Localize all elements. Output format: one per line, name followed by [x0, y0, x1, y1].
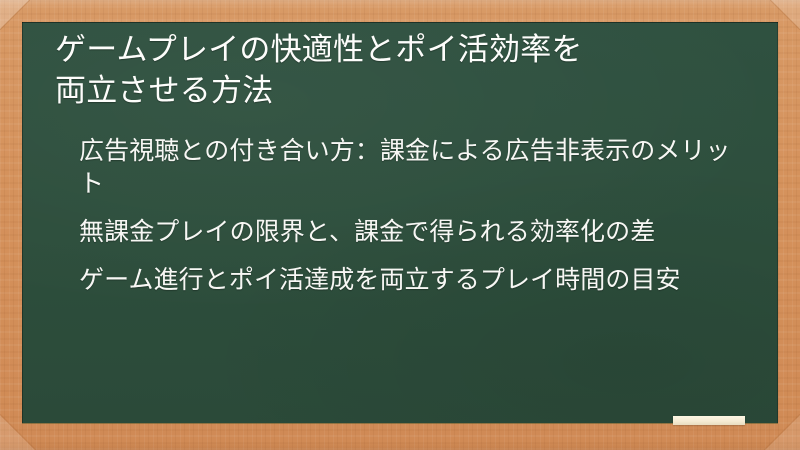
- frame-top-bevel: [0, 0, 800, 7]
- slide-title: ゲームプレイの快適性とポイ活効率を 両立させる方法: [55, 30, 748, 112]
- list-item: ゲーム進行とポイ活達成を両立するプレイ時間の目安: [79, 263, 748, 296]
- list-item: 無課金プレイの限界と、課金で得られる効率化の差: [79, 215, 748, 248]
- chalkboard-wooden-frame: ゲームプレイの快適性とポイ活効率を 両立させる方法 広告視聴との付き合い方：課金…: [0, 0, 800, 450]
- slide-bullet-list: 広告視聴との付き合い方：課金による広告非表示のメリット 無課金プレイの限界と、課…: [55, 134, 748, 296]
- frame-bottom-bevel: [0, 442, 800, 450]
- chalkboard-surface: ゲームプレイの快適性とポイ活効率を 両立させる方法 広告視聴との付き合い方：課金…: [22, 22, 778, 423]
- list-item: 広告視聴との付き合い方：課金による広告非表示のメリット: [79, 134, 748, 200]
- chalk-eraser-icon: [673, 416, 745, 425]
